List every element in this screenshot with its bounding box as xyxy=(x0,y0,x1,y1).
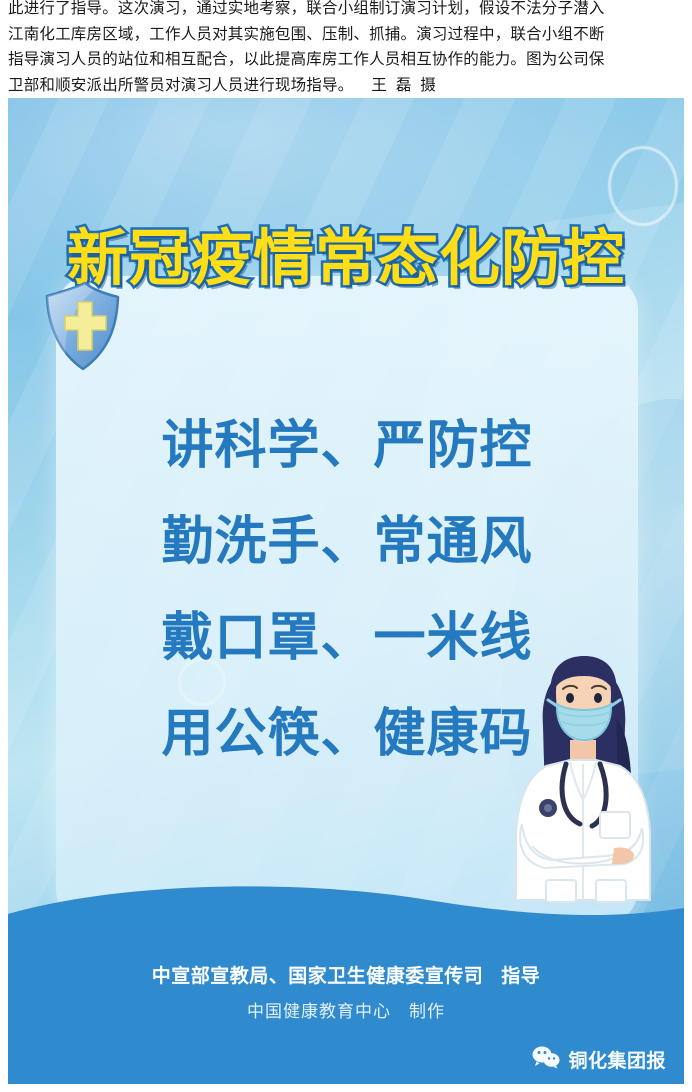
article-line: 此进行了指导。这次演习，通过实地考察，联合小组制订演习计划，假设不法分子潜入 xyxy=(8,0,686,22)
credit-primary: 中宣部宣教局、国家卫生健康委宣传司指导 xyxy=(8,961,684,988)
credit-primary-suffix: 指导 xyxy=(501,965,540,987)
article-text-block: 此进行了指导。这次演习，通过实地考察，联合小组制订演习计划，假设不法分子潜入 江… xyxy=(8,0,686,98)
wechat-watermark: 铜化集团报 xyxy=(531,1045,666,1074)
article-line: 卫部和顺安派出所警员对演习人员进行现场指导。 xyxy=(8,76,353,94)
credit-primary-text: 中宣部宣教局、国家卫生健康委宣传司 xyxy=(152,965,484,987)
slogan-item: 勤洗手、常通风 xyxy=(56,494,638,590)
slogan-item: 讲科学、严防控 xyxy=(56,398,638,494)
shield-with-cross-icon xyxy=(38,280,124,372)
wave-divider xyxy=(8,874,684,934)
female-doctor-illustration xyxy=(488,648,678,910)
wechat-watermark-label: 铜化集团报 xyxy=(568,1046,666,1073)
article-line-with-byline: 卫部和顺安派出所警员对演习人员进行现场指导。王 磊 摄 xyxy=(8,73,686,99)
covid-prevention-poster: 新冠疫情常态化防控 讲科学、严防控 勤洗手、常通风 戴口罩、一米线 用公筷、健康… xyxy=(8,98,684,1084)
credit-secondary: 中国健康教育中心 制作 xyxy=(8,997,684,1022)
article-line: 江南化工库房区域，工作人员对其实施包围、压制、抓捕。演习过程中，联合小组不断 xyxy=(8,22,686,48)
article-byline: 王 磊 摄 xyxy=(371,76,437,94)
wechat-logo-icon xyxy=(531,1045,561,1074)
article-line: 指导演习人员的站位和相互配合，以此提高库房工作人员相互协作的能力。图为公司保 xyxy=(8,47,686,73)
